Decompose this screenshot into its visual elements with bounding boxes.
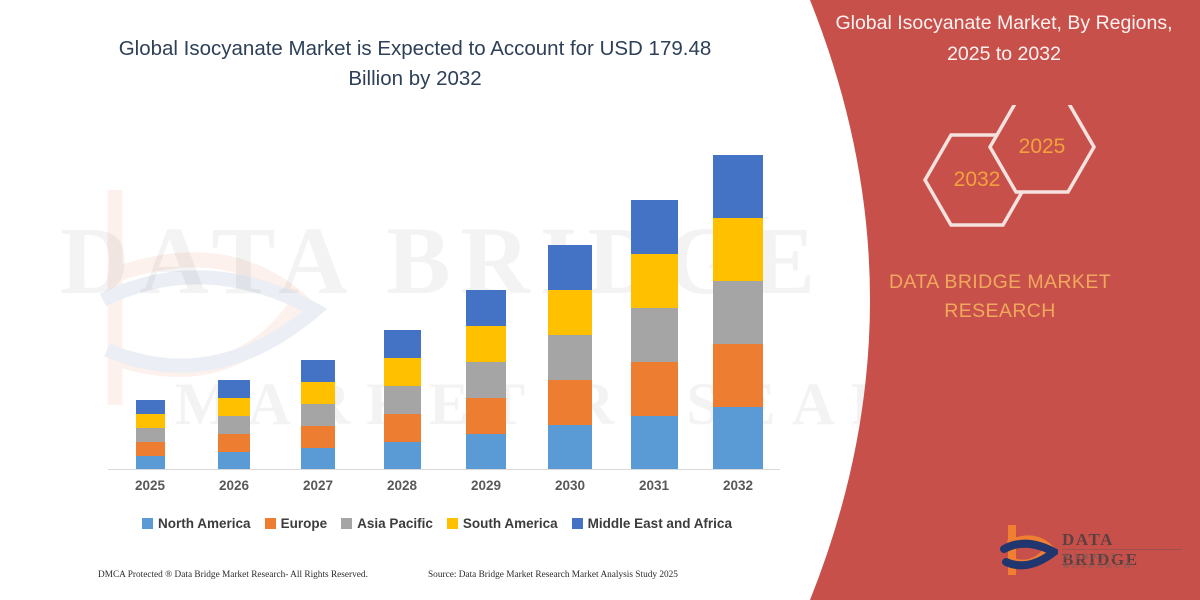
bar-2031: [631, 200, 678, 470]
x-tick-2030: 2030: [540, 478, 600, 493]
bar-segment-south-america: [136, 414, 165, 428]
chart-legend: North AmericaEuropeAsia PacificSouth Ame…: [108, 512, 780, 534]
legend-swatch-icon: [265, 518, 276, 529]
bar-segment-middle-east-and-africa: [218, 380, 250, 398]
bar-segment-europe: [218, 434, 250, 452]
footer-source: Source: Data Bridge Market Research Mark…: [428, 570, 678, 580]
right-panel-title: Global Isocyanate Market, By Regions, 20…: [828, 8, 1180, 70]
bar-segment-north-america: [136, 456, 165, 470]
legend-swatch-icon: [572, 518, 583, 529]
bar-segment-europe: [136, 442, 165, 456]
bar-segment-asia-pacific: [548, 335, 592, 380]
legend-label: South America: [463, 516, 558, 531]
bar-segment-south-america: [301, 382, 335, 404]
legend-item-north-america[interactable]: North America: [142, 516, 251, 531]
bar-2032: [713, 155, 763, 470]
bar-segment-south-america: [713, 218, 763, 281]
right-red-panel: Global Isocyanate Market, By Regions, 20…: [780, 0, 1200, 600]
bar-segment-middle-east-and-africa: [384, 330, 421, 358]
bar-segment-europe: [713, 344, 763, 407]
bar-segment-middle-east-and-africa: [466, 290, 506, 326]
x-tick-2028: 2028: [372, 478, 432, 493]
legend-item-middle-east-and-africa[interactable]: Middle East and Africa: [572, 516, 732, 531]
bar-2027: [301, 360, 335, 470]
bar-segment-middle-east-and-africa: [548, 245, 592, 290]
bar-segment-north-america: [218, 452, 250, 470]
bar-2029: [466, 290, 506, 470]
logo-divider: [1062, 549, 1182, 550]
page-title: Global Isocyanate Market is Expected to …: [115, 34, 715, 94]
bar-segment-asia-pacific: [136, 428, 165, 442]
legend-item-south-america[interactable]: South America: [447, 516, 558, 531]
bar-segment-europe: [384, 414, 421, 442]
legend-label: Asia Pacific: [357, 516, 433, 531]
chart-panel: Global Isocyanate Market is Expected to …: [0, 0, 820, 600]
bar-segment-asia-pacific: [713, 281, 763, 344]
bar-segment-middle-east-and-africa: [631, 200, 678, 254]
bar-segment-middle-east-and-africa: [136, 400, 165, 414]
bar-segment-asia-pacific: [466, 362, 506, 398]
bar-2026: [218, 380, 250, 470]
bar-2025: [136, 400, 165, 470]
brand-wordmark: DATA BRIDGE MARKET RESEARCH: [810, 268, 1190, 326]
bar-segment-north-america: [631, 416, 678, 470]
x-tick-2032: 2032: [708, 478, 768, 493]
legend-item-europe[interactable]: Europe: [265, 516, 328, 531]
infographic-canvas: DATA BRIDGE MARKET RESEARCH Global Isocy…: [0, 0, 1200, 600]
bar-segment-north-america: [713, 407, 763, 470]
hexagon-group: 2032 2025: [820, 105, 1180, 255]
legend-swatch-icon: [447, 518, 458, 529]
legend-swatch-icon: [341, 518, 352, 529]
bar-segment-europe: [301, 426, 335, 448]
hexagon-label-2025: 2025: [992, 135, 1092, 159]
bar-segment-middle-east-and-africa: [301, 360, 335, 382]
logo-subtitle: MARKET RESEARCH: [1063, 552, 1190, 570]
bar-segment-middle-east-and-africa: [713, 155, 763, 218]
legend-swatch-icon: [142, 518, 153, 529]
bar-segment-europe: [466, 398, 506, 434]
bar-segment-europe: [548, 380, 592, 425]
stacked-bar-plot: [108, 140, 780, 470]
x-tick-2029: 2029: [456, 478, 516, 493]
bar-segment-south-america: [384, 358, 421, 386]
bar-segment-south-america: [631, 254, 678, 308]
legend-label: North America: [158, 516, 251, 531]
x-tick-2026: 2026: [204, 478, 264, 493]
bar-segment-south-america: [466, 326, 506, 362]
bar-segment-north-america: [548, 425, 592, 470]
bar-segment-asia-pacific: [301, 404, 335, 426]
data-bridge-logo-icon: [1000, 525, 1058, 577]
hexagon-label-2032: 2032: [927, 168, 1027, 192]
bar-segment-asia-pacific: [218, 416, 250, 434]
brand-line-1: DATA BRIDGE MARKET: [889, 271, 1111, 293]
x-axis-tick-labels: 20252026202720282029203020312032: [108, 478, 780, 502]
x-tick-2027: 2027: [288, 478, 348, 493]
right-panel-content: Global Isocyanate Market, By Regions, 20…: [780, 0, 1200, 600]
bar-segment-north-america: [466, 434, 506, 470]
bar-segment-asia-pacific: [631, 308, 678, 362]
x-axis-line: [108, 469, 780, 470]
legend-item-asia-pacific[interactable]: Asia Pacific: [341, 516, 433, 531]
bar-segment-north-america: [301, 448, 335, 470]
corner-logo: DATA BRIDGE MARKET RESEARCH: [1000, 525, 1190, 581]
bar-segment-south-america: [548, 290, 592, 335]
legend-label: Middle East and Africa: [588, 516, 732, 531]
footer-copyright: DMCA Protected ® Data Bridge Market Rese…: [98, 570, 368, 580]
bar-2030: [548, 245, 592, 470]
bar-segment-asia-pacific: [384, 386, 421, 414]
x-tick-2031: 2031: [624, 478, 684, 493]
brand-line-2: RESEARCH: [944, 300, 1056, 322]
bar-2028: [384, 330, 421, 470]
bar-segment-north-america: [384, 442, 421, 470]
bar-segment-south-america: [218, 398, 250, 416]
bar-segment-europe: [631, 362, 678, 416]
legend-label: Europe: [281, 516, 328, 531]
x-tick-2025: 2025: [120, 478, 180, 493]
